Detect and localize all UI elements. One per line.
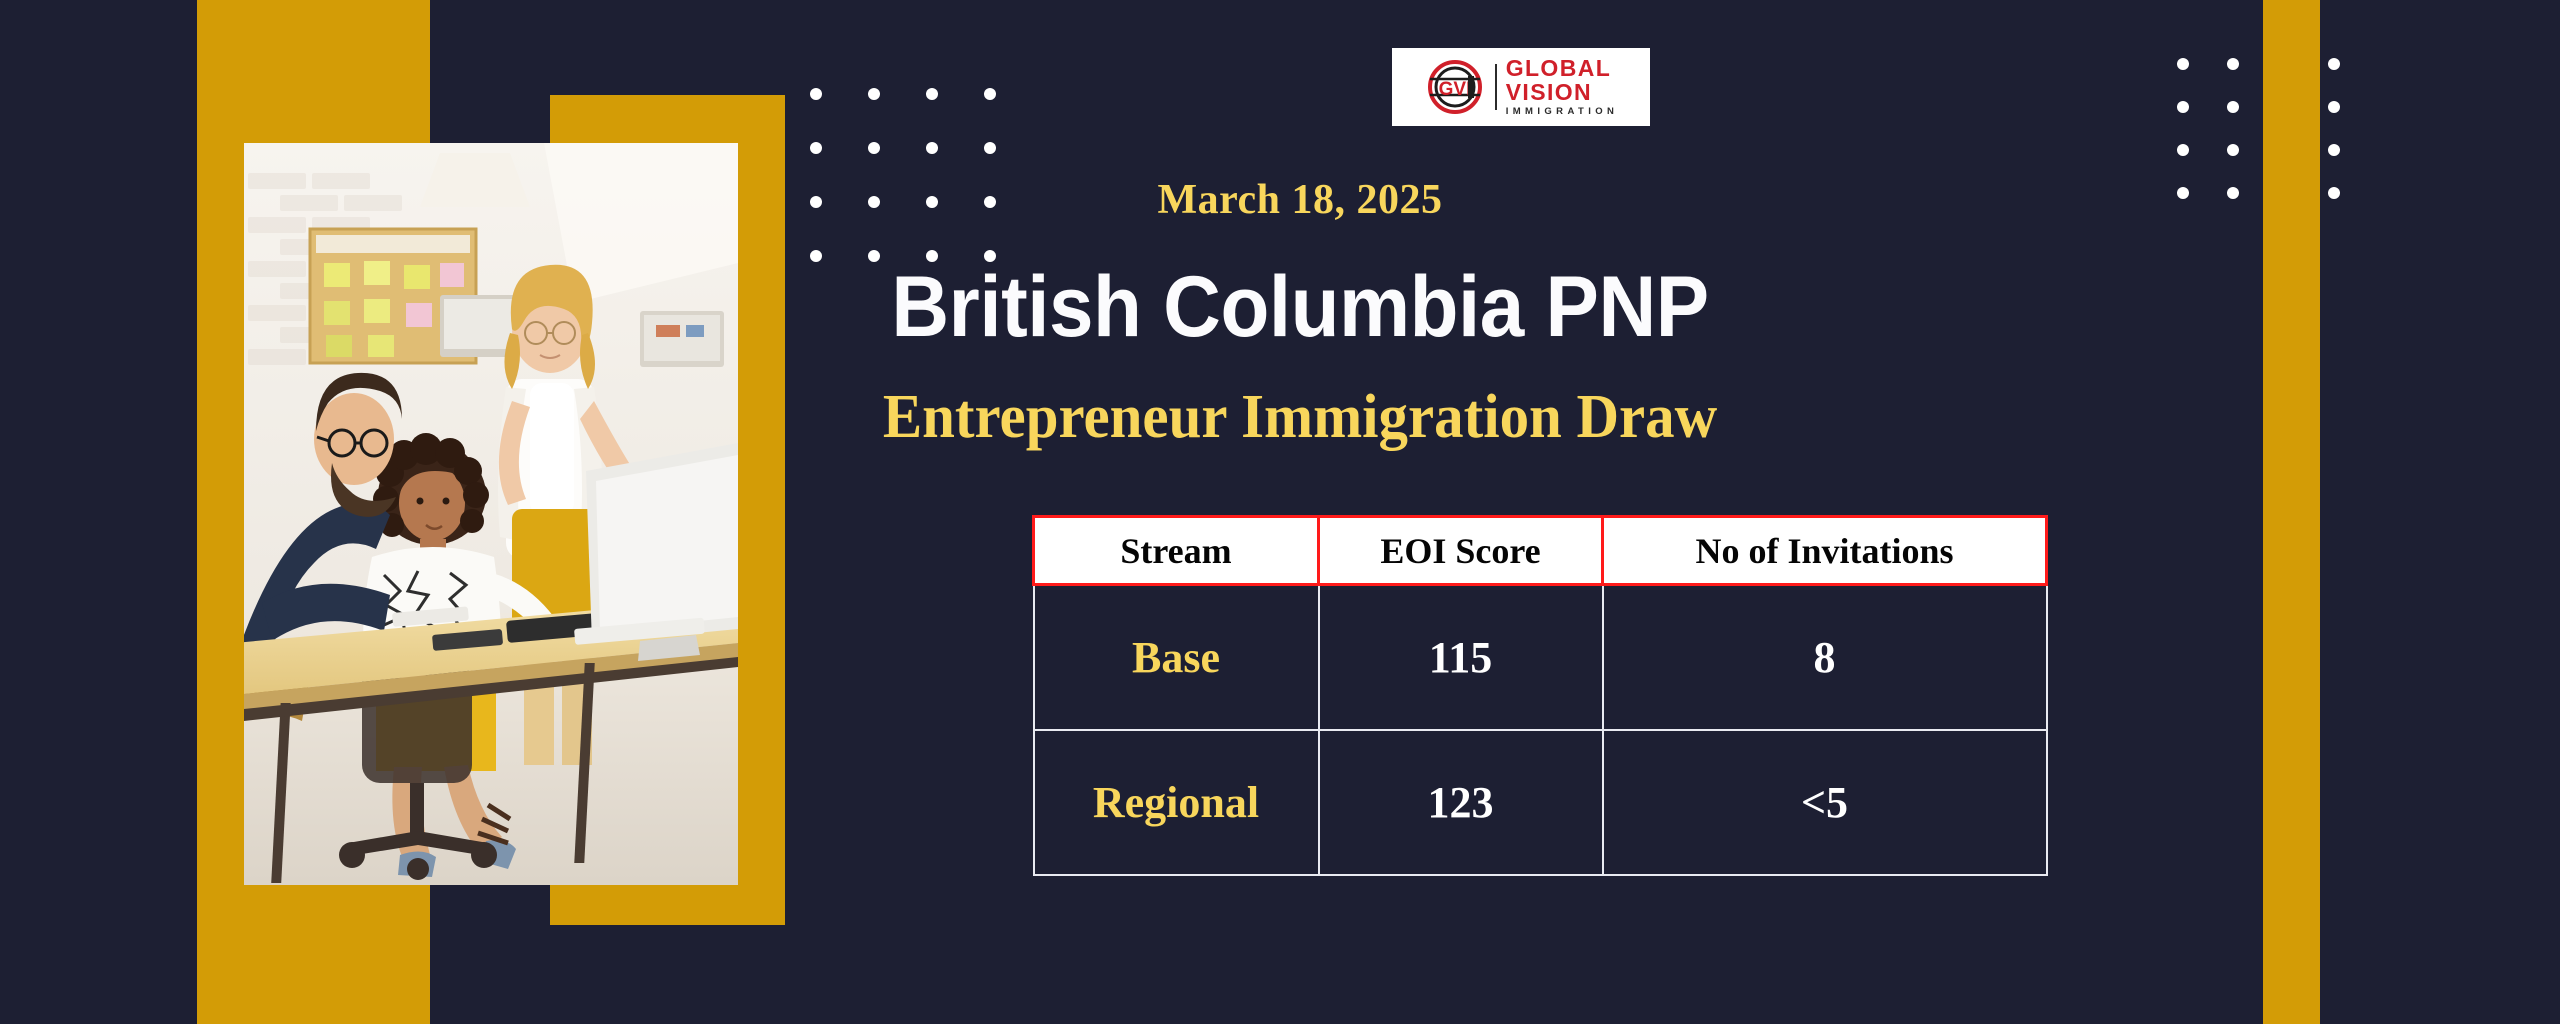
table-body: Base 115 8 Regional 123 <5 <box>1034 585 2047 875</box>
banner-root: GVI GLOBAL VISION IMMIGRATION March 18, … <box>0 0 2560 1024</box>
decor-dot <box>984 142 996 154</box>
team-photo <box>244 143 738 885</box>
column-header-stream: Stream <box>1034 517 1319 585</box>
column-header-invitations: No of Invitations <box>1603 517 2047 585</box>
brand-logo[interactable]: GVI GLOBAL VISION IMMIGRATION <box>1392 48 1650 126</box>
decor-dot <box>2177 58 2189 70</box>
decor-dot <box>810 196 822 208</box>
decor-dot <box>2227 101 2239 113</box>
decor-dot <box>810 88 822 100</box>
brand-logo-inner: GVI GLOBAL VISION IMMIGRATION <box>1424 57 1619 117</box>
logo-word-global: GLOBAL <box>1506 57 1619 80</box>
team-photo-illustration <box>244 143 738 885</box>
cell-invitations: 8 <box>1603 585 2047 730</box>
decor-dot <box>810 142 822 154</box>
logo-word-vision: VISION <box>1506 81 1619 104</box>
cell-eoi-score: 123 <box>1319 730 1603 875</box>
decor-dot <box>2177 101 2189 113</box>
decor-dot <box>926 88 938 100</box>
decor-dot <box>868 142 880 154</box>
dot-grid-right-inner <box>2177 58 2277 230</box>
page-subtitle: Entrepreneur Immigration Draw <box>768 382 1832 453</box>
svg-text:GVI: GVI <box>1438 79 1471 100</box>
decor-dot <box>868 88 880 100</box>
decor-dot <box>868 196 880 208</box>
decor-dot <box>2227 144 2239 156</box>
cell-eoi-score: 115 <box>1319 585 1603 730</box>
gvi-monogram-icon: GVI <box>1424 60 1486 114</box>
dot-grid-right-outer <box>2328 58 2378 230</box>
logo-word-immigration: IMMIGRATION <box>1506 107 1619 117</box>
decor-dot <box>2328 101 2340 113</box>
decor-dot <box>2177 187 2189 199</box>
decor-dot <box>2177 144 2189 156</box>
cell-stream: Base <box>1034 585 1319 730</box>
draw-results-table: Stream EOI Score No of Invitations Base … <box>1032 515 2048 876</box>
table-row: Base 115 8 <box>1034 585 2047 730</box>
decor-dot <box>2328 144 2340 156</box>
table-head: Stream EOI Score No of Invitations <box>1034 517 2047 585</box>
decor-dot <box>2328 187 2340 199</box>
decor-dot <box>2227 58 2239 70</box>
logo-divider <box>1495 64 1497 110</box>
draw-date: March 18, 2025 <box>920 176 1680 224</box>
page-title: British Columbia PNP <box>742 258 1858 357</box>
decor-dot <box>2227 187 2239 199</box>
cell-stream: Regional <box>1034 730 1319 875</box>
decor-dot <box>926 142 938 154</box>
decor-dot <box>2328 58 2340 70</box>
logo-wordmark: GLOBAL VISION IMMIGRATION <box>1506 57 1619 117</box>
cell-invitations: <5 <box>1603 730 2047 875</box>
column-header-eoi-score: EOI Score <box>1319 517 1603 585</box>
table-header-row: Stream EOI Score No of Invitations <box>1034 517 2047 585</box>
decor-dot <box>984 88 996 100</box>
table-row: Regional 123 <5 <box>1034 730 2047 875</box>
